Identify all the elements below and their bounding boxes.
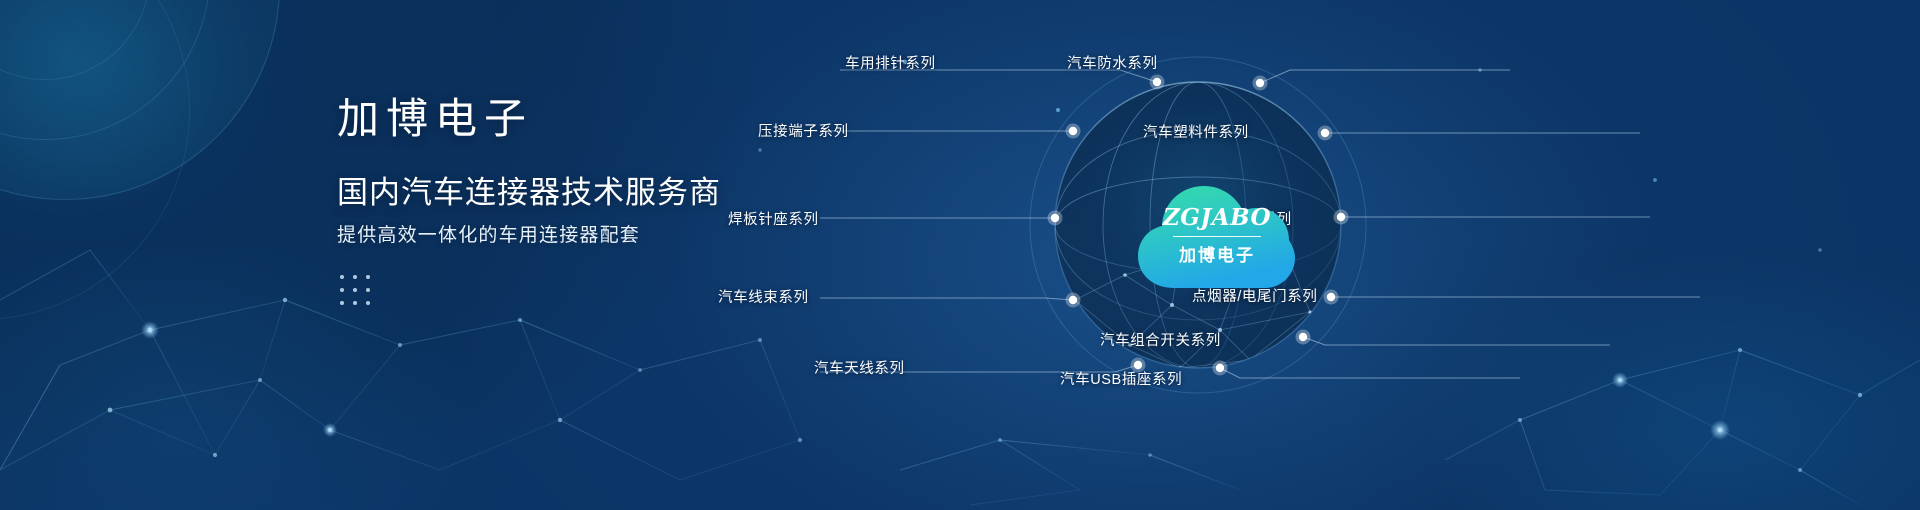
brand-title: 加博电子	[337, 98, 767, 140]
node-wire-harness[interactable]: 汽车线束系列	[718, 286, 809, 307]
logo-divider	[1173, 236, 1261, 238]
node-crimp-terminal[interactable]: 压接端子系列	[758, 120, 849, 141]
node-auto-antenna[interactable]: 汽车天线系列	[814, 357, 905, 378]
brand-text-block: 加博电子 国内汽车连接器技术服务商 提供高效一体化的车用连接器配套	[337, 98, 767, 314]
node-combination-switch[interactable]: 汽车组合开关系列	[1100, 329, 1221, 350]
node-auto-usb-socket[interactable]: 汽车USB插座系列	[1060, 368, 1182, 389]
logo-latin-name: ZGJABO	[1163, 204, 1271, 231]
node-auto-waterproof[interactable]: 汽车防水系列	[1067, 52, 1158, 73]
node-auto-plastic-parts[interactable]: 汽车塑料件系列	[1143, 121, 1249, 142]
product-radial-diagram: 车用排针系列 汽车防水系列 压接端子系列 汽车塑料件系列 焊板针座系列 汽车连接…	[820, 0, 1920, 510]
node-auto-pin-header[interactable]: 车用排针系列	[845, 52, 936, 73]
brand-subtitle: 国内汽车连接器技术服务商	[337, 178, 767, 209]
company-cloud-logo: ZGJABO 加博电子	[1132, 170, 1302, 290]
decorative-dot-grid	[340, 275, 767, 314]
promotional-banner: 加博电子 国内汽车连接器技术服务商 提供高效一体化的车用连接器配套	[0, 0, 1920, 510]
logo-chinese-name: 加博电子	[1179, 241, 1255, 266]
brand-tagline: 提供高效一体化的车用连接器配套	[337, 226, 767, 245]
diagram-connector-lines	[820, 0, 1920, 510]
node-solder-board-header[interactable]: 焊板针座系列	[728, 208, 819, 229]
cloud-logo-text: ZGJABO 加博电子	[1132, 170, 1302, 290]
